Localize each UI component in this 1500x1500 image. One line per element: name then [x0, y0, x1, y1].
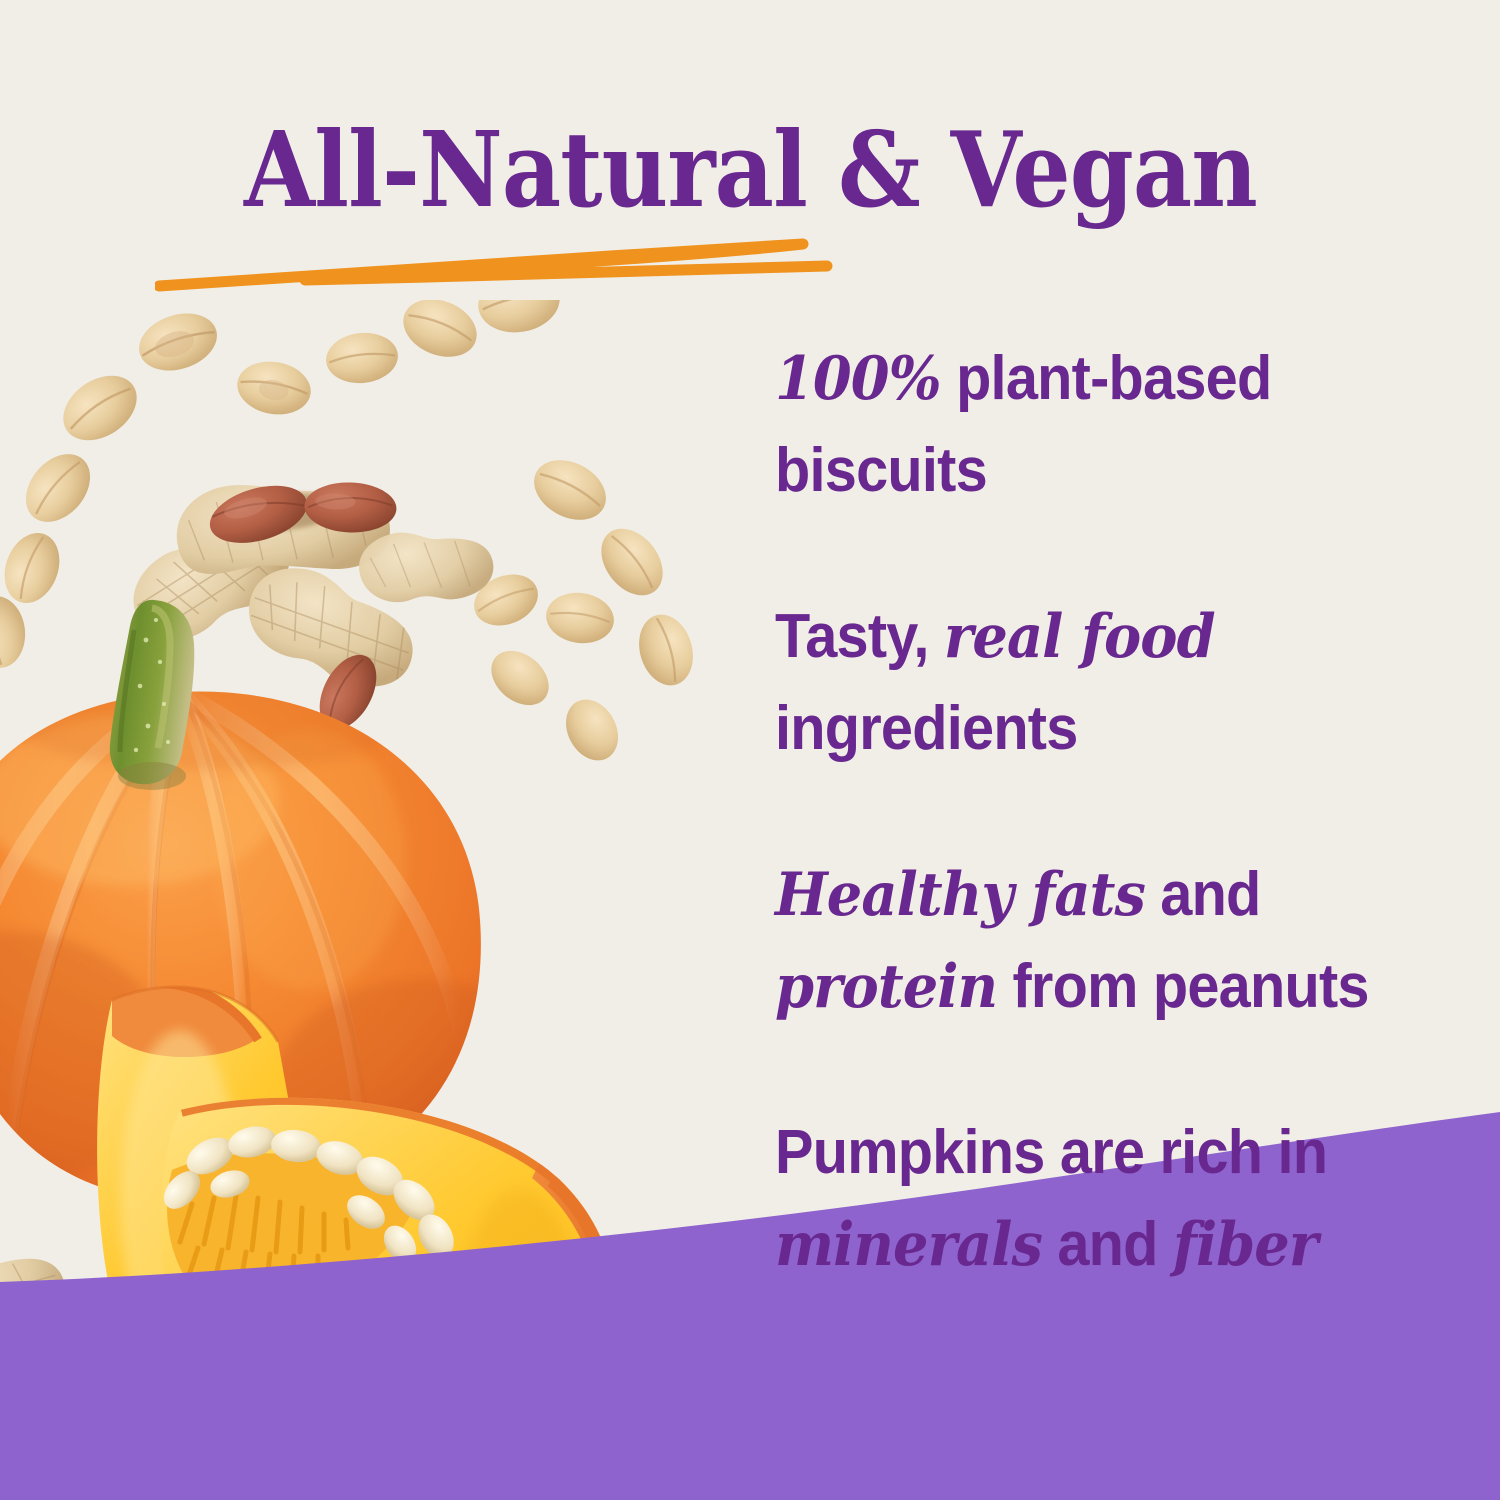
- emphasis-text: fiber: [1173, 1210, 1317, 1280]
- benefits-list: 100% plant-based biscuits Tasty, real fo…: [775, 333, 1435, 1291]
- page-title: All-Natural & Vegan: [244, 118, 1257, 222]
- headline-container: All-Natural & Vegan: [0, 118, 1500, 222]
- list-item-real-food: Tasty, real food ingredients: [775, 591, 1389, 775]
- emphasis-text: Healthy fats: [775, 860, 1145, 930]
- plain-text: and: [1042, 1210, 1173, 1279]
- list-item-healthy-fats: Healthy fats and protein from peanuts: [775, 849, 1389, 1033]
- squiggle-underline-icon: [155, 236, 835, 300]
- plain-text: ingredients: [775, 694, 1078, 763]
- emphasis-text: 100%: [775, 344, 941, 414]
- emphasis-text: minerals: [775, 1210, 1042, 1280]
- list-item-plant-based: 100% plant-based biscuits: [775, 333, 1389, 517]
- list-item-pumpkin-minerals: Pumpkins are rich in minerals and fiber: [775, 1107, 1389, 1291]
- emphasis-text: protein: [775, 952, 997, 1022]
- plain-text: and: [1145, 860, 1261, 929]
- plain-text: from peanuts: [997, 952, 1369, 1021]
- plain-text: Pumpkins are rich in: [775, 1118, 1327, 1187]
- emphasis-text: real food: [944, 602, 1215, 672]
- plain-text: Tasty,: [775, 602, 944, 671]
- product-feature-banner: All-Natural & Vegan 100% plant-based bis…: [0, 0, 1500, 1500]
